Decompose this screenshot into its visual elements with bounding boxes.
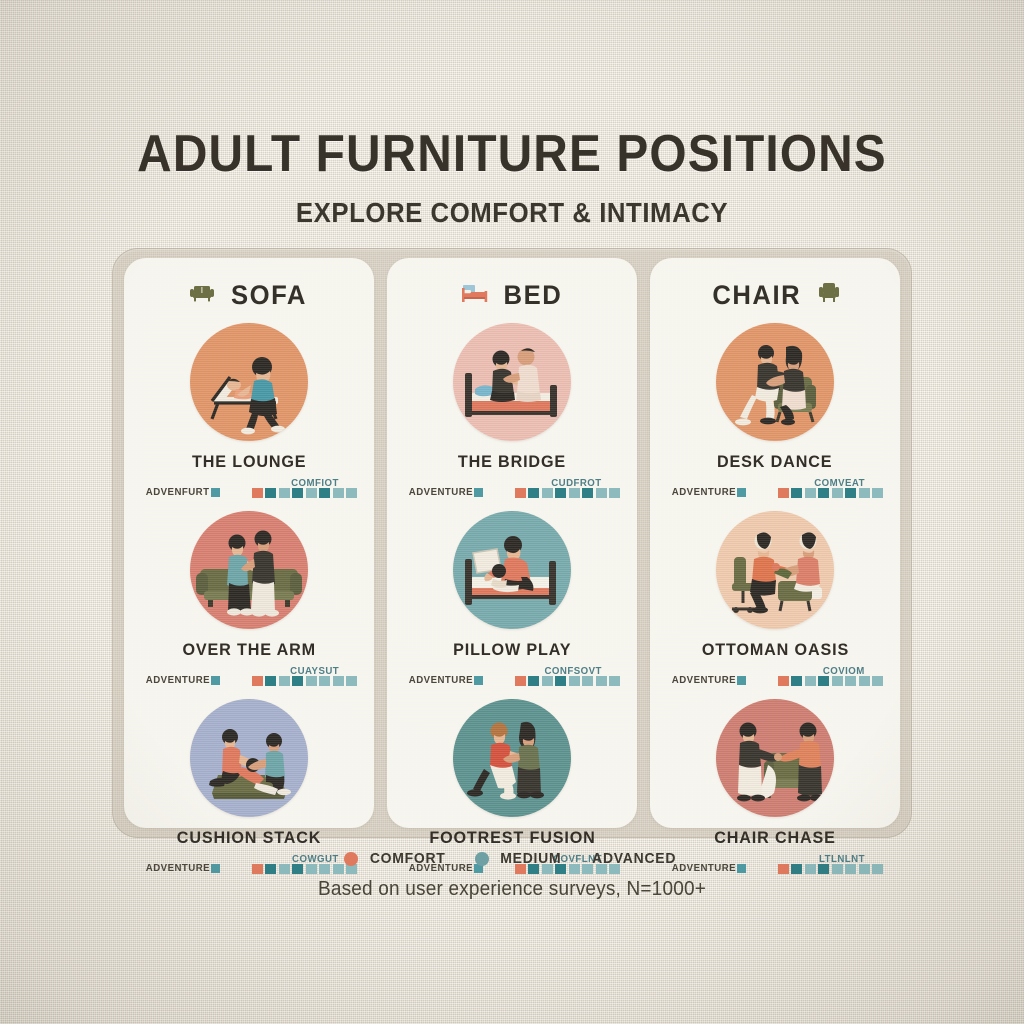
bar-cell [609,676,620,686]
category-column-chair: CHAIRDESK DANCEADVENTURECOMVEATOTTOMAN O… [650,258,900,828]
rating-meters: ADVENTURECOMVEAT [663,479,887,499]
comfort-bar [515,676,621,686]
adventure-label: ADVENTURE [672,674,736,686]
position-entry[interactable]: FOOTREST FUSIONADVENTURECOVFLNT [387,699,637,875]
adventure-swatch [474,676,483,685]
legend-dot [344,852,358,866]
position-name: OTTOMAN OASIS [701,640,848,660]
legend-label: COMFORT [370,850,446,867]
comfort-bar [778,488,884,498]
bar-cell [252,488,263,498]
bar-cell [292,676,303,686]
bar-cell [333,488,344,498]
column-title: SOFA [231,280,307,311]
bar-cell [542,488,553,498]
position-illustration [453,511,571,629]
position-entry[interactable]: PILLOW PLAYADVENTURECONFSOVT [387,511,637,687]
adventure-label: ADVENTURE [409,486,473,498]
bar-cell [872,676,883,686]
position-illustration [453,699,571,817]
column-title: CHAIR [713,280,802,311]
bar-cell [832,676,843,686]
position-entry[interactable]: THE BRIDGEADVENTURECUDFROT [387,323,637,499]
position-entry[interactable]: CUSHION STACKADVENTURECOWGUT [124,699,374,875]
category-column-bed: BEDTHE BRIDGEADVENTURECUDFROTPILLOW PLAY… [387,258,637,828]
adventure-swatch [737,488,746,497]
position-name: THE BRIDGE [458,452,566,472]
bar-cell [515,676,526,686]
bar-cell [818,488,829,498]
position-name: CHAIR CHASE [714,828,836,848]
bar-cell [306,676,317,686]
bar-cell [778,488,789,498]
bar-cell [791,676,802,686]
column-header: SOFA [124,280,374,311]
comfort-bar [515,488,621,498]
bar-cell [859,676,870,686]
bar-cell [569,488,580,498]
bar-cell [609,488,620,498]
rating-meters: ADVENTURECONFSOVT [400,667,624,687]
bar-cell [832,488,843,498]
bar-cell [845,676,856,686]
bar-cell [252,676,263,686]
legend-label: ADVANCED [593,850,677,867]
bar-cell [582,488,593,498]
adventure-label: ADVENFURT [146,486,210,498]
bar-cell [872,488,883,498]
category-columns: SOFATHE LOUNGEADVENFURTCOMFIOTOVER THE A… [112,248,912,838]
position-name: PILLOW PLAY [453,640,571,660]
legend-label: MEDIUM [500,850,561,867]
rating-meters: ADVENTURECUAYSUT [137,667,361,687]
position-name: FOOTREST FUSION [429,828,595,848]
position-entry[interactable]: OVER THE ARMADVENTURECUAYSUT [124,511,374,687]
comfort-bar [778,676,884,686]
legend: COMFORTMEDIUMADVANCED [0,850,1024,867]
adventure-swatch [211,676,220,685]
bar-cell [319,676,330,686]
page-title: ADULT FURNITURE POSITIONS [41,124,983,184]
bar-cell [279,676,290,686]
bar-cell [778,676,789,686]
position-name: DESK DANCE [717,452,832,472]
rating-meters: ADVENTURECOVIOM [663,667,887,687]
bar-cell [596,676,607,686]
bar-cell [319,488,330,498]
bed-icon [461,283,488,309]
legend-item: MEDIUM [475,850,564,867]
column-header: BED [387,280,637,311]
position-name: THE LOUNGE [192,452,306,472]
armchair-icon [818,282,840,309]
position-entry[interactable]: DESK DANCEADVENTURECOMVEAT [650,323,900,499]
bar-cell [805,488,816,498]
bar-cell [515,488,526,498]
bar-cell [542,676,553,686]
rating-meters: ADVENFURTCOMFIOT [137,479,361,499]
adventure-label: ADVENTURE [409,674,473,686]
bar-cell [528,676,539,686]
adventure-label: ADVENTURE [672,486,736,498]
bar-cell [818,676,829,686]
position-illustration [190,699,308,817]
rating-meters: ADVENTURECUDFROT [400,479,624,499]
comfort-bar [252,488,358,498]
position-illustration [716,699,834,817]
bar-cell [582,676,593,686]
position-illustration [190,323,308,441]
sofa-icon-svg [189,283,215,303]
bar-cell [555,676,566,686]
legend-item: COMFORT [344,850,448,867]
bar-cell [596,488,607,498]
position-entry[interactable]: CHAIR CHASEADVENTURELTLNLNT [650,699,900,875]
legend-dot [475,852,489,866]
bar-cell [265,488,276,498]
comfort-bar [252,676,358,686]
bar-cell [805,676,816,686]
legend-item: ADVANCED [589,850,679,867]
bar-cell [569,676,580,686]
position-illustration [453,323,571,441]
bar-cell [346,488,357,498]
bar-cell [306,488,317,498]
bar-cell [528,488,539,498]
armchair-icon-svg [818,282,840,304]
bar-cell [279,488,290,498]
category-column-sofa: SOFATHE LOUNGEADVENFURTCOMFIOTOVER THE A… [124,258,374,828]
column-title: BED [503,280,562,311]
bar-cell [555,488,566,498]
position-name: OVER THE ARM [182,640,315,660]
bed-icon-svg [461,283,488,304]
poster-header: ADULT FURNITURE POSITIONS EXPLORE COMFOR… [0,124,1024,229]
adventure-swatch [211,488,220,497]
position-illustration [716,323,834,441]
adventure-label: ADVENTURE [146,674,210,686]
bar-cell [845,488,856,498]
position-entry[interactable]: THE LOUNGEADVENFURTCOMFIOT [124,323,374,499]
adventure-swatch [474,488,483,497]
position-name: CUSHION STACK [177,828,322,848]
footer-note: Based on user experience surveys, N=1000… [26,878,999,901]
adventure-swatch [737,676,746,685]
position-entry[interactable]: OTTOMAN OASISADVENTURECOVIOM [650,511,900,687]
bar-cell [346,676,357,686]
sofa-icon [189,283,215,308]
bar-cell [859,488,870,498]
bar-cell [265,676,276,686]
bar-cell [333,676,344,686]
bar-cell [791,488,802,498]
bar-cell [292,488,303,498]
column-header: CHAIR [650,280,900,311]
position-illustration [190,511,308,629]
page-subtitle: EXPLORE COMFORT & INTIMACY [41,197,983,229]
position-illustration [716,511,834,629]
